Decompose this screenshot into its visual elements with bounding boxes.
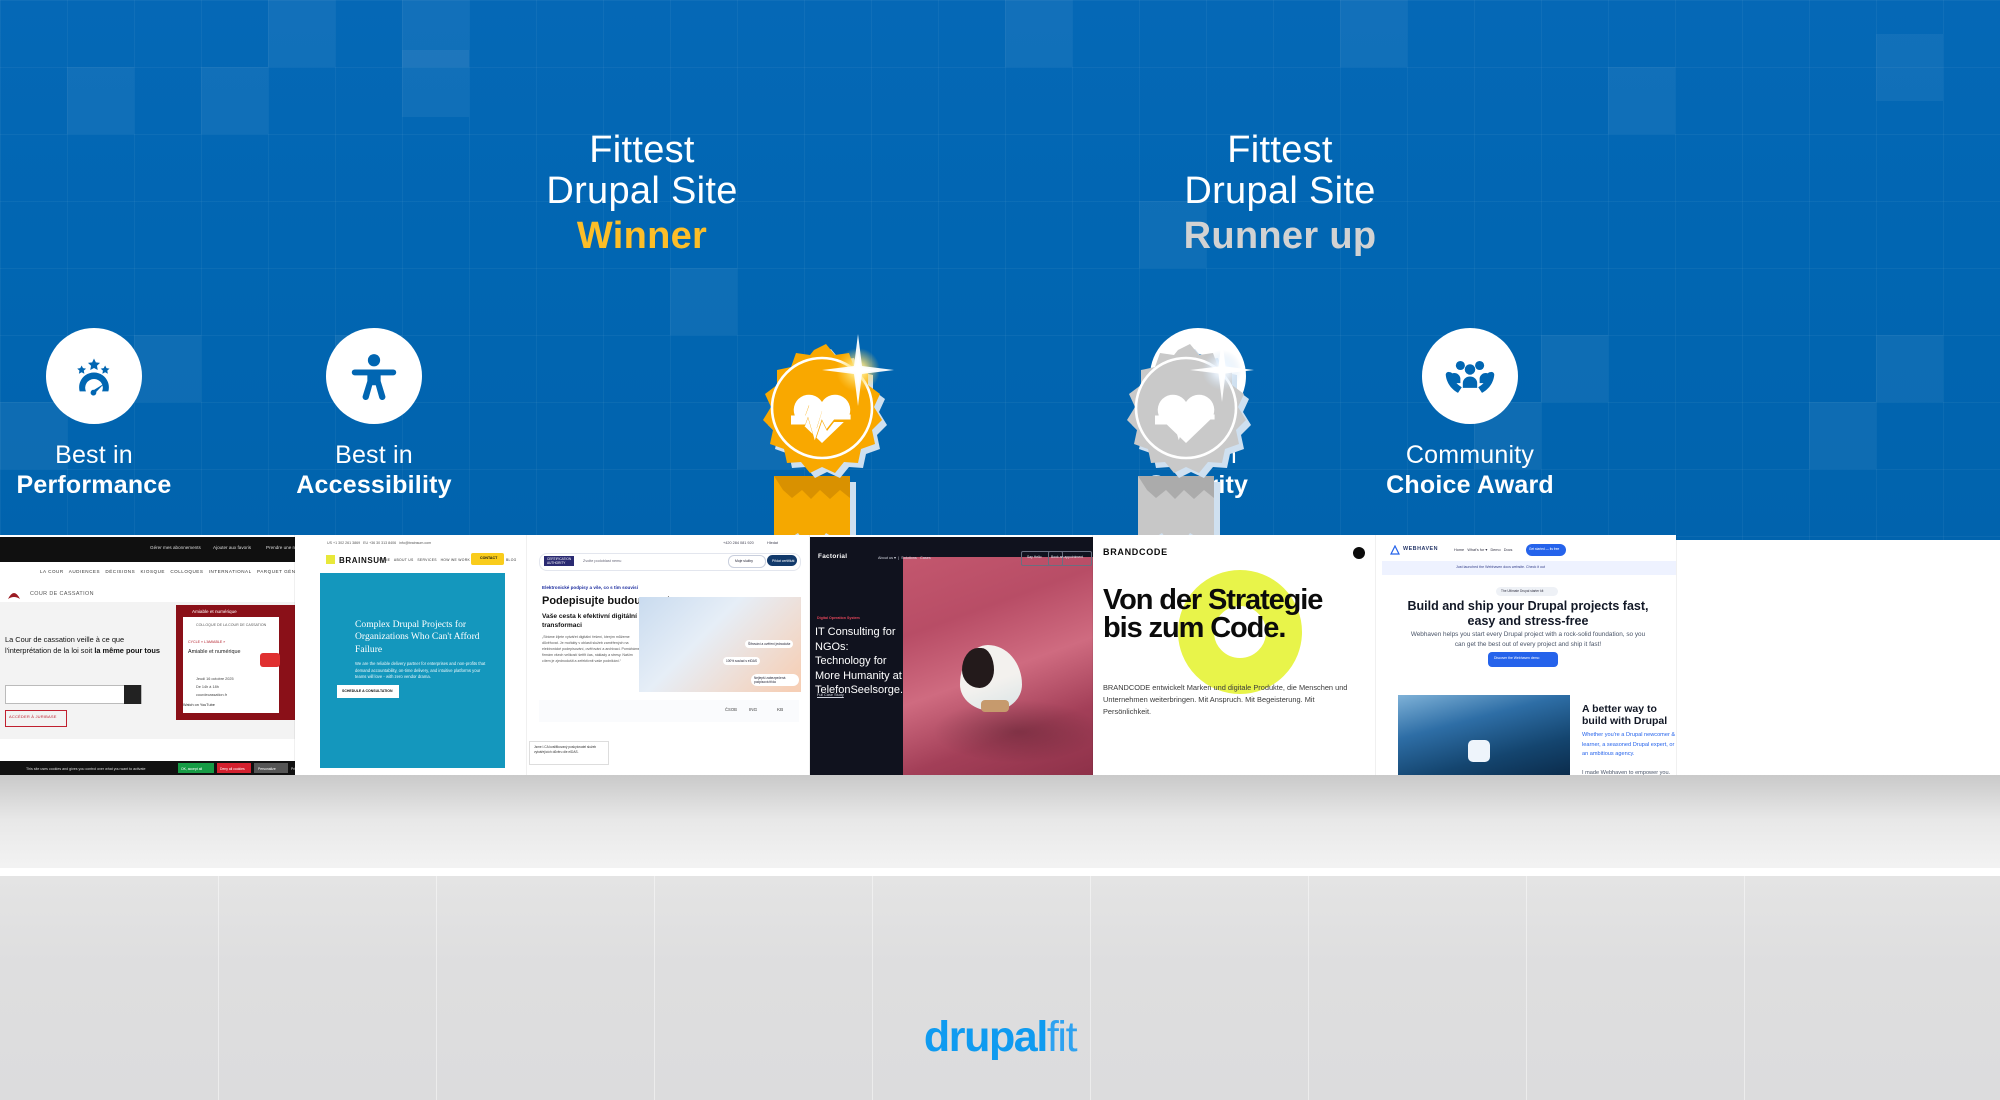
hero-banner: Best in Performance Best in Accessibilit… [0,0,2000,540]
s1-topbar-links: Gérer mes abonnements [150,545,201,550]
page-fold-separator [0,868,2000,876]
s6-announcement-text: Just launched the Webhaven docs website.… [1456,565,1545,569]
screenshot-cour-de-cassation[interactable]: Gérer mes abonnements Ajouter aux favori… [0,535,295,775]
s3-phone: +420 284 081 920 [723,541,754,545]
award-community[interactable]: Community Choice Award [1340,328,1600,499]
gold-medal-graphic [728,342,908,540]
s1-nav-item[interactable]: DÉCISIONS [105,569,135,574]
s5-brand[interactable]: BRANDCODE [1103,547,1168,557]
s1-card-sub: COLLOQUE DE LA COUR DE CASSATION [196,623,266,627]
s1-topbar-links-3: Prendre une note [266,545,295,550]
s1-card-watch[interactable]: Watch on YouTube [183,703,215,707]
s2-consultation-label: SCHEDULE A CONSULTATION [342,689,393,693]
s1-search-button[interactable] [124,685,141,704]
award-performance[interactable]: Best in Performance [0,328,224,499]
site-screenshot-strip: Gérer mes abonnements Ajouter aux favori… [0,535,2000,775]
hands-people-icon [1442,348,1498,404]
s2-body: We are the reliable delivery partner for… [355,661,488,681]
s4-nav-item[interactable]: About us [878,556,893,560]
s2-email[interactable]: info@brainsum.com [399,541,431,545]
grid-accent-block [1809,402,1876,469]
s2-nav-item[interactable]: HOME [379,558,390,562]
s4-case-study-link[interactable]: Full Case Study [817,693,844,697]
s2-phone-eu: EU +36 30 313 8406 [363,541,396,545]
screenshot-brainsum[interactable]: US +1 302 261 3869 EU +36 30 313 8406 in… [295,535,527,775]
page-root: Best in Performance Best in Accessibilit… [0,0,2000,1100]
s3-partner-1: ČSOB [725,707,737,712]
s5-body: BRANDCODE entwickelt Marken und digitale… [1103,682,1353,719]
s3-partner-3: KB [777,707,783,712]
s6-get-started-label: Get started — its free [1529,547,1559,551]
runnerup-heading-line2: Drupal Site [1070,171,1490,212]
grid-accent-block [1876,335,1943,402]
s3-my-services-label: Moje služby [735,559,753,563]
s6-headline: Build and ship your Drupal projects fast… [1392,599,1664,629]
winner-heading-line2: Drupal Site [432,171,852,212]
s6-kicker-text: The Ultimate Drupal starter kit [1501,589,1543,593]
s1-search-input[interactable] [5,685,142,704]
winner-heading-line3: Winner [432,215,852,258]
s1-card-headline: Amiable et numérique [188,649,240,655]
s1-youtube-play-icon[interactable] [260,653,280,667]
s1-cookie-accept-label: OK, accept all [181,767,202,771]
s6-logo-icon [1390,545,1400,555]
s1-nav-items[interactable]: LA COUR AUDIENCES DÉCISIONS KIOSQUE COLL… [40,569,295,574]
s3-badge-2: 100% soulad s eIDAS [723,657,760,665]
s3-body: „Stráme žijete vytvářet digitální řešení… [542,635,642,665]
s6-section-title: A better way to build with Drupal [1582,703,1674,727]
s6-nav-item[interactable]: Demo [1490,548,1500,552]
s4-brand[interactable]: Factorial [818,553,847,560]
s4-book-label: Book an appointment [1051,555,1083,559]
s6-nav-item[interactable]: Home [1454,548,1464,552]
s6-boat-icon [1468,740,1490,762]
s6-nav-item[interactable]: Docs [1504,548,1513,552]
s3-partner-logos [539,700,799,722]
grid-accent-block [1876,34,1943,101]
grid-accent-block [268,0,335,67]
s1-topbar-links-2: Ajouter aux favoris [213,545,251,550]
s2-logo-mark [326,555,335,564]
s4-person-shoes [981,700,1009,712]
winner-heading: Fittest Drupal Site Winner [432,130,852,258]
s1-card-url: courdecassation.fr [196,693,227,697]
footer-gridline [654,876,655,1100]
s2-nav-item[interactable]: BLOG [506,558,517,562]
s1-nav-item[interactable]: LA COUR [40,569,64,574]
award-label-line1: Community [1340,442,1600,468]
award-label-line1: Best in [244,442,504,468]
s6-demo-label: Discover the Webhaven demo [1494,656,1539,660]
s3-badge-1: Šifrování a ověření jednoduše [745,640,793,648]
s2-nav-item[interactable]: SERVICES [417,558,437,562]
s4-kicker: Digital Operation System [817,616,860,620]
s4-headline: IT Consulting for NGOs: Technology for M… [815,625,907,698]
s3-brand: CERTIFICATION AUTHORITY [547,558,571,565]
s2-phone-us: US +1 302 261 3869 [327,541,360,545]
grid-accent-block [1608,67,1675,134]
footer-gridline [436,876,437,1100]
s3-kicker: Elektronické podpisy a vše, co s tím sou… [542,585,638,590]
drupalfit-logo-bold: drupal [924,1013,1047,1061]
s1-card-time: De 14h à 18h [196,685,219,689]
award-label-line2: Accessibility [244,472,504,498]
s3-utility-bar [530,539,807,551]
s3-subhead: Vaše cesta k efektivní digitální transfo… [542,613,642,630]
screenshot-webhaven[interactable]: WEBHAVEN Home What's for ▾ Demo Docs Get… [1376,535,1676,775]
s2-topbar-contacts: US +1 302 261 3869 EU +36 30 313 8406 in… [327,541,431,545]
universal-access-icon [346,348,402,404]
footer-gridline [1526,876,1527,1100]
s4-person-hair [962,648,994,688]
s1-cookie-text: This site uses cookies and gives you con… [26,767,145,771]
s3-add-cert-label: Přidat certifikát [772,559,794,563]
s3-search-label[interactable]: Hledat [767,541,778,545]
s5-headline: Von der Strategie bis zum Code. [1103,587,1367,642]
s6-section-body-1[interactable]: Whether you're a Drupal newcomer & learn… [1582,732,1675,757]
s3-badge-3: Nejlepší zabezpečená podpisová třída [751,674,799,686]
s3-cookie-text: Jsme I.CA kvalifikovaný poskytovatel slu… [534,745,598,755]
s1-headline-bold: la même pour tous [94,646,160,655]
footer-surface [0,876,2000,1100]
s4-nav[interactable]: About us ▾ | Solutions Cases [878,555,931,560]
grid-accent-block [402,50,469,117]
silver-medal [1092,342,1272,540]
s2-headline: Complex Drupal Projects for Organization… [355,619,485,656]
s1-cookie-personalize-label: Personalize [258,767,276,771]
s4-nav-item[interactable]: Solutions [901,556,917,560]
s6-section-body: Whether you're a Drupal newcomer & learn… [1582,731,1676,775]
s2-nav-item[interactable]: HOW WE WORK [441,558,470,562]
footer-gridline [1308,876,1309,1100]
footer-gridline [1744,876,1745,1100]
screenshot-certification-authority[interactable]: +420 284 081 920 Hledat CERTIFICATION AU… [527,535,810,775]
s1-logo-icon [5,585,23,603]
grid-accent-block [670,268,737,335]
award-icon-circle [46,328,142,424]
s6-ocean-image [1398,695,1570,775]
s4-nav-item[interactable]: Cases [920,556,931,560]
gold-medal [728,342,908,540]
award-icon-circle [326,328,422,424]
page-fold-shadow [0,775,2000,875]
screenshot-factorial[interactable]: Factorial About us ▾ | Solutions Cases S… [810,535,1093,775]
speedometer-stars-icon [66,348,122,404]
silver-medal-graphic [1092,342,1272,540]
runnerup-heading: Fittest Drupal Site Runner up [1070,130,1490,258]
s1-nav-item[interactable]: INTERNATIONAL [209,569,252,574]
s1-nav-item[interactable]: PARQUET GÉNÉRAL [257,569,295,574]
drupalfit-logo-light: fit [1047,1013,1076,1061]
award-icon-circle [1422,328,1518,424]
grid-accent-block [67,67,134,134]
s5-menu-icon[interactable] [1353,547,1365,559]
footer-gridline [872,876,873,1100]
s6-subhead: Webhaven helps you start every Drupal pr… [1406,630,1650,650]
s1-nav-item[interactable]: KIOSQUE [141,569,165,574]
award-label-line1: Best in [0,442,224,468]
s4-say-hello-label: Say Hello [1027,555,1042,559]
grid-accent-block [1005,0,1072,67]
runnerup-heading-line3: Runner up [1070,215,1490,258]
s1-nav-item[interactable]: AUDIENCES [69,569,100,574]
s3-partner-2: ING [749,707,757,712]
award-accessibility[interactable]: Best in Accessibility [244,328,504,499]
s1-brand[interactable]: COUR DE CASSATION [30,591,94,597]
s1-nav-item[interactable]: COLLOQUES [170,569,203,574]
s1-juribase-label: ACCÉDER À JURIBASE [9,714,57,719]
s3-select[interactable]: Zvolte podoblast nemu [583,559,621,563]
s2-contact-label: CONTACT [480,556,497,560]
s6-nav-items[interactable]: Home What's for ▾ Demo Docs [1454,547,1512,552]
winner-heading-line1: Fittest [432,130,852,171]
s1-card-title-top: Amiable et numérique [192,609,237,614]
screenshot-brandcode[interactable]: BRANDCODE Von der Strategie bis zum Code… [1093,535,1376,775]
s2-nav-item[interactable]: ABOUT US [394,558,414,562]
s6-brand[interactable]: WEBHAVEN [1403,546,1438,552]
grid-accent-block [201,67,268,134]
award-label-line2: Choice Award [1340,472,1600,498]
runnerup-heading-line1: Fittest [1070,130,1490,171]
s1-card-kicker: CYCLE « L'AMIABLE » [188,640,225,644]
footer-gridline [1090,876,1091,1100]
s1-card-date: Jeudi 16 octobre 2025 [196,677,234,681]
grid-accent-block [1340,0,1407,67]
s1-cookie-deny-label: Deny all cookies [220,767,245,771]
s6-nav-item[interactable]: What's for [1467,548,1484,552]
drupalfit-logo[interactable]: drupalfit [0,1016,2000,1059]
award-label-line2: Performance [0,472,224,498]
s1-headline: La Cour de cassation veille à ce que l'i… [5,635,165,656]
footer-gridline [218,876,219,1100]
